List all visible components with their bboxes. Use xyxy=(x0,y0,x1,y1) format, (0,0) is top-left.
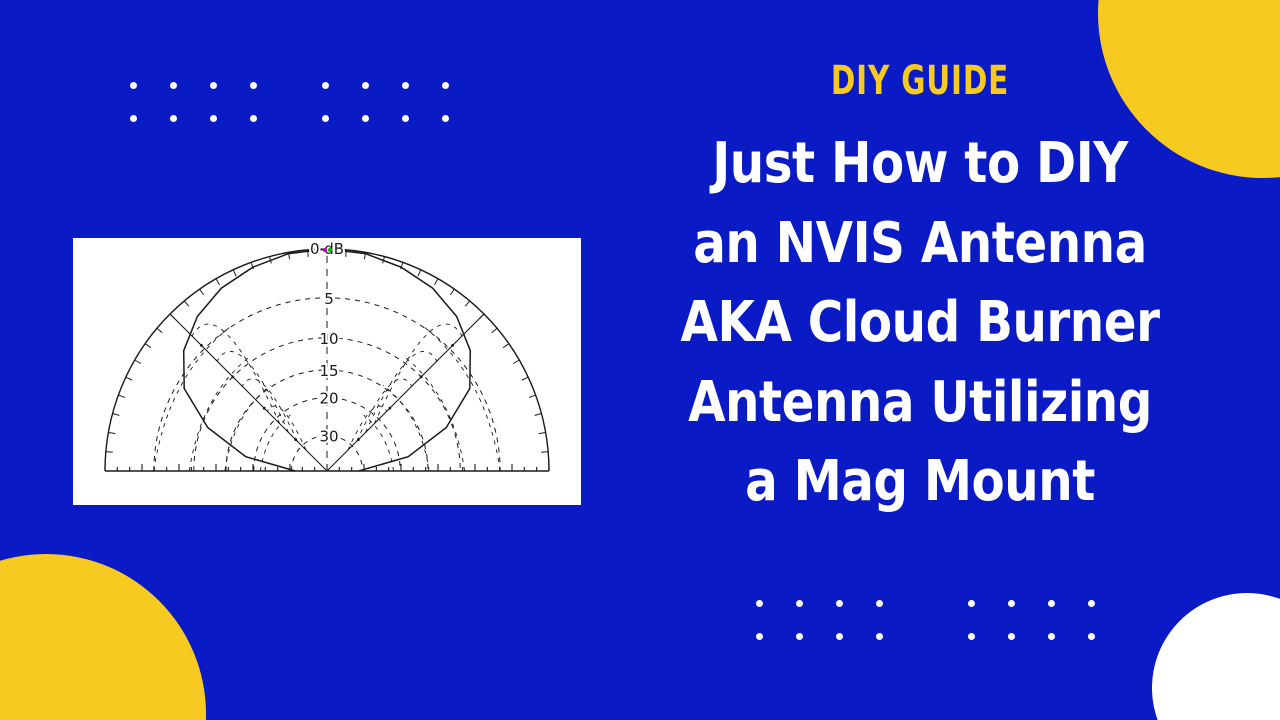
dot xyxy=(876,633,883,640)
poster-canvas: 5101520300 dB DIY GUIDE Just How to DIY … xyxy=(0,0,1280,720)
dot xyxy=(250,82,257,89)
dot xyxy=(1048,633,1055,640)
dot xyxy=(322,115,329,122)
dot xyxy=(836,600,843,607)
headline-line-4: Antenna Utilizing xyxy=(613,363,1227,443)
eyebrow-label: DIY GUIDE xyxy=(658,60,1183,102)
white-circle-bottom-right xyxy=(1152,593,1280,720)
dot xyxy=(210,115,217,122)
headline-line-2: an NVIS Antenna xyxy=(613,204,1227,284)
dot xyxy=(442,82,449,89)
dot xyxy=(1088,633,1095,640)
reference-label-0db: 0 dB xyxy=(310,240,344,258)
headline-line-5: a Mag Mount xyxy=(613,442,1227,522)
dot xyxy=(170,82,177,89)
polar-elevation-plot: 5101520300 dB xyxy=(73,238,581,505)
dot xyxy=(1008,600,1015,607)
yellow-quarter-circle-bottom-left xyxy=(0,554,206,720)
dot xyxy=(210,82,217,89)
dot xyxy=(1008,633,1015,640)
headline-line-1: Just How to DIY xyxy=(613,124,1227,204)
dot xyxy=(1088,600,1095,607)
dot xyxy=(250,115,257,122)
dot xyxy=(362,82,369,89)
dot xyxy=(968,600,975,607)
dot xyxy=(796,633,803,640)
text-column: DIY GUIDE Just How to DIY an NVIS Antenn… xyxy=(600,60,1240,522)
ring-label--20: 20 xyxy=(319,390,338,408)
page-title: Just How to DIY an NVIS Antenna AKA Clou… xyxy=(600,124,1240,522)
dot xyxy=(1048,600,1055,607)
dot xyxy=(322,82,329,89)
antenna-pattern-figure: 5101520300 dB xyxy=(73,238,581,505)
dot-grid-bottom-left xyxy=(756,600,883,640)
dot xyxy=(130,115,137,122)
headline-line-3: AKA Cloud Burner xyxy=(613,283,1227,363)
dot-grid-top-left xyxy=(130,82,257,122)
ring-label--5: 5 xyxy=(324,290,334,308)
dot-grid-top-right xyxy=(322,82,449,122)
dot xyxy=(442,115,449,122)
dot xyxy=(796,600,803,607)
dot xyxy=(402,82,409,89)
dot xyxy=(968,633,975,640)
dot xyxy=(756,633,763,640)
ring-label--30: 30 xyxy=(319,427,338,445)
dot xyxy=(402,115,409,122)
dot xyxy=(130,82,137,89)
dot xyxy=(876,600,883,607)
ring-label--10: 10 xyxy=(319,330,338,348)
dot-grid-bottom-right xyxy=(968,600,1095,640)
dot xyxy=(362,115,369,122)
dot xyxy=(756,600,763,607)
dot xyxy=(170,115,177,122)
ring-label--15: 15 xyxy=(319,362,338,380)
dot xyxy=(836,633,843,640)
